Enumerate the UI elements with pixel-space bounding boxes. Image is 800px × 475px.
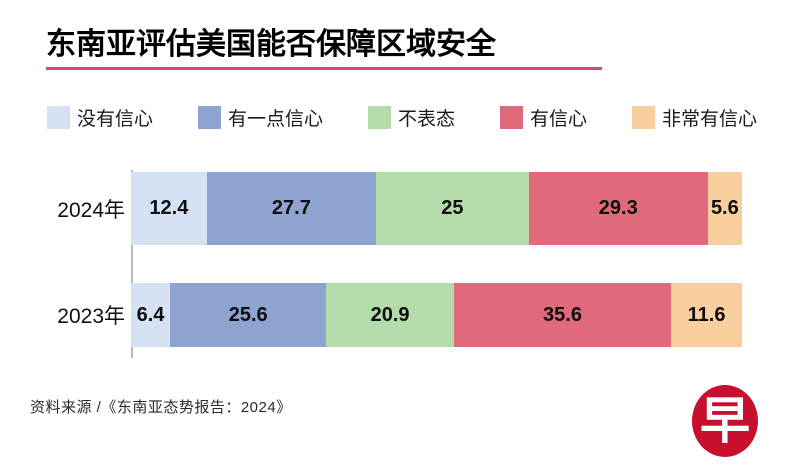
bar-segment-value[interactable]: 27.7 xyxy=(207,172,376,245)
bar-row: 2024年12.427.72529.35.6 xyxy=(0,172,800,245)
bar-segment-value[interactable]: 35.6 xyxy=(454,283,671,347)
legend-item-4[interactable]: 非常有信心 xyxy=(632,104,757,131)
legend-item-2[interactable]: 不表态 xyxy=(368,104,455,131)
bar-segment-value[interactable]: 5.6 xyxy=(708,172,742,245)
stacked-bar: 12.427.72529.35.6 xyxy=(131,172,742,245)
bar-segment-value[interactable]: 20.9 xyxy=(326,283,454,347)
infographic-root: 东南亚评估美国能否保障区域安全 没有信心有一点信心不表态有信心非常有信心 202… xyxy=(0,0,800,475)
stacked-bar: 6.425.620.935.611.6 xyxy=(131,283,742,347)
bar-row-category-label: 2023年 xyxy=(0,300,131,330)
legend-label-1: 有一点信心 xyxy=(228,104,323,131)
title-underline-rule xyxy=(46,67,602,70)
bar-segment-value[interactable]: 12.4 xyxy=(131,172,207,245)
legend-label-3: 有信心 xyxy=(530,104,587,131)
legend-item-0[interactable]: 没有信心 xyxy=(47,104,153,131)
legend-swatch-icon-2 xyxy=(368,106,391,129)
legend-swatch-icon-1 xyxy=(198,106,221,129)
bar-segment-value[interactable]: 11.6 xyxy=(671,283,742,347)
bar-row-category-label: 2024年 xyxy=(0,194,131,224)
bar-row: 2023年6.425.620.935.611.6 xyxy=(0,283,800,347)
legend-label-0: 没有信心 xyxy=(77,104,153,131)
legend-label-4: 非常有信心 xyxy=(662,104,757,131)
source-note: 资料来源 /《东南亚态势报告：2024》 xyxy=(30,396,292,417)
plot-area: 2024年12.427.72529.35.62023年6.425.620.935… xyxy=(0,160,800,360)
bar-segment-value[interactable]: 25.6 xyxy=(170,283,326,347)
chart-legend: 没有信心有一点信心不表态有信心非常有信心 xyxy=(47,104,757,131)
zaobao-logo-glyph: 早 xyxy=(700,393,750,449)
zaobao-logo: 早 xyxy=(689,382,761,460)
legend-swatch-icon-4 xyxy=(632,106,655,129)
legend-swatch-icon-0 xyxy=(47,106,70,129)
bar-segment-value[interactable]: 6.4 xyxy=(131,283,170,347)
legend-item-3[interactable]: 有信心 xyxy=(500,104,587,131)
title-block: 东南亚评估美国能否保障区域安全 xyxy=(46,28,746,70)
page-title: 东南亚评估美国能否保障区域安全 xyxy=(46,28,746,61)
legend-label-2: 不表态 xyxy=(398,104,455,131)
legend-swatch-icon-3 xyxy=(500,106,523,129)
bar-segment-value[interactable]: 29.3 xyxy=(529,172,708,245)
legend-item-1[interactable]: 有一点信心 xyxy=(198,104,323,131)
bar-segment-value[interactable]: 25 xyxy=(376,172,529,245)
